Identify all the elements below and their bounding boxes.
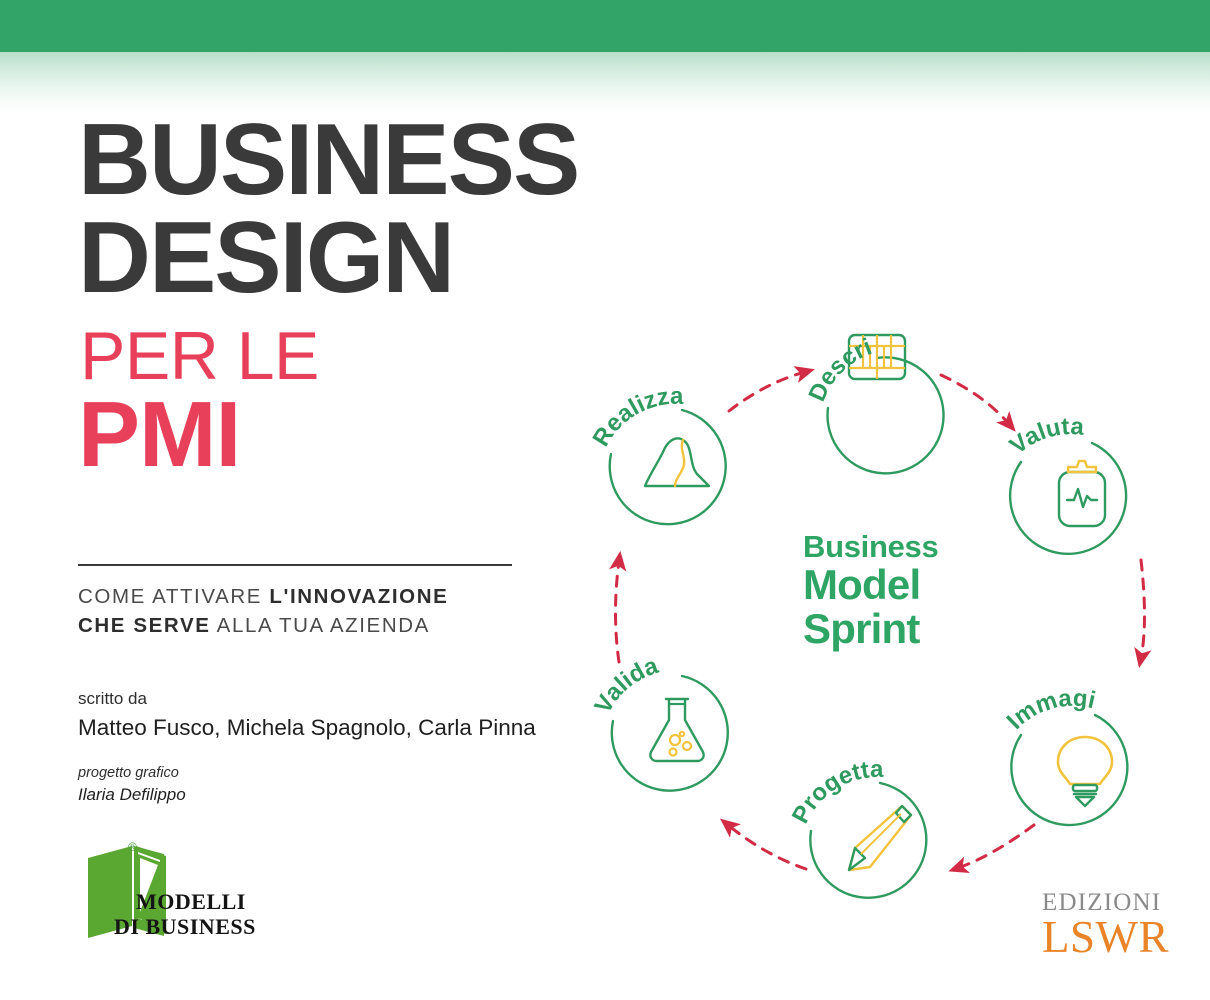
lightbulb-icon	[1058, 737, 1112, 806]
road-path-icon	[645, 438, 709, 486]
publisher-logo-modelli-di-business: ® MODELLI DI BUSINESS	[80, 838, 300, 963]
subtitle: COME ATTIVARE L'INNOVAZIONE CHE SERVE AL…	[78, 582, 598, 640]
subtitle-part1: COME ATTIVARE	[78, 585, 269, 608]
step-label-descrivi: Descrivi	[560, 262, 875, 405]
step-circle-realizza[interactable]: Realizza	[588, 383, 726, 524]
registered-mark: ®	[128, 840, 137, 854]
flow-arrow-valida-to-realizza	[616, 561, 620, 662]
publisher-logo-line1: MODELLI	[136, 889, 246, 915]
flow-arrow-immagina-to-progetta	[958, 825, 1034, 868]
center-title-line1: Business	[803, 531, 1003, 562]
credits-block: scritto da Matteo Fusco, Michela Spagnol…	[78, 688, 638, 805]
designer-name: Ilaria Defilippo	[78, 785, 638, 805]
subtitle-part2: ALLA TUA AZIENDA	[211, 614, 430, 637]
book-cover: BUSINESS DESIGN PER LE PMI COME ATTIVARE…	[0, 0, 1210, 1000]
pencil-icon	[849, 806, 911, 870]
flask-icon	[650, 699, 703, 761]
written-by-label: scritto da	[78, 688, 638, 711]
step-circle-valuta[interactable]: Valuta	[1005, 413, 1126, 554]
authors-list: Matteo Fusco, Michela Spagnolo, Carla Pi…	[78, 713, 638, 743]
flow-arrow-descrivi-to-valuta	[941, 375, 1009, 424]
step-label-valuta: Valuta	[1005, 413, 1086, 460]
step-circle-progetta[interactable]: Progetta	[787, 756, 926, 898]
flow-arrow-realizza-to-descrivi	[729, 372, 805, 411]
subtitle-bold1: L'INNOVAZIONE	[269, 585, 448, 608]
flow-arrow-progetta-to-valida	[728, 825, 806, 869]
title-divider	[78, 564, 512, 566]
center-title-line2: Model	[803, 564, 1003, 606]
clipboard-pulse-icon	[1059, 461, 1105, 526]
step-circle-valida[interactable]: Valida	[589, 652, 727, 791]
top-green-band	[0, 0, 1210, 52]
step-label-progetta: Progetta	[787, 756, 884, 828]
page-title-line1: BUSINESS	[78, 112, 778, 210]
subtitle-bold2: CHE SERVE	[78, 614, 211, 637]
step-circle-descrivi[interactable]: Descrivi	[560, 262, 944, 473]
publisher-logo-line2: DI BUSINESS	[114, 914, 256, 940]
diagram-center-title: Business Model Sprint	[803, 531, 1003, 650]
flow-arrow-valuta-to-immagina	[1141, 560, 1145, 658]
center-title-line3: Sprint	[803, 608, 1003, 650]
design-credit-label: progetto grafico	[78, 765, 638, 781]
step-label-valida: Valida	[589, 652, 662, 718]
step-label-immagina: Immagina	[560, 262, 1098, 735]
